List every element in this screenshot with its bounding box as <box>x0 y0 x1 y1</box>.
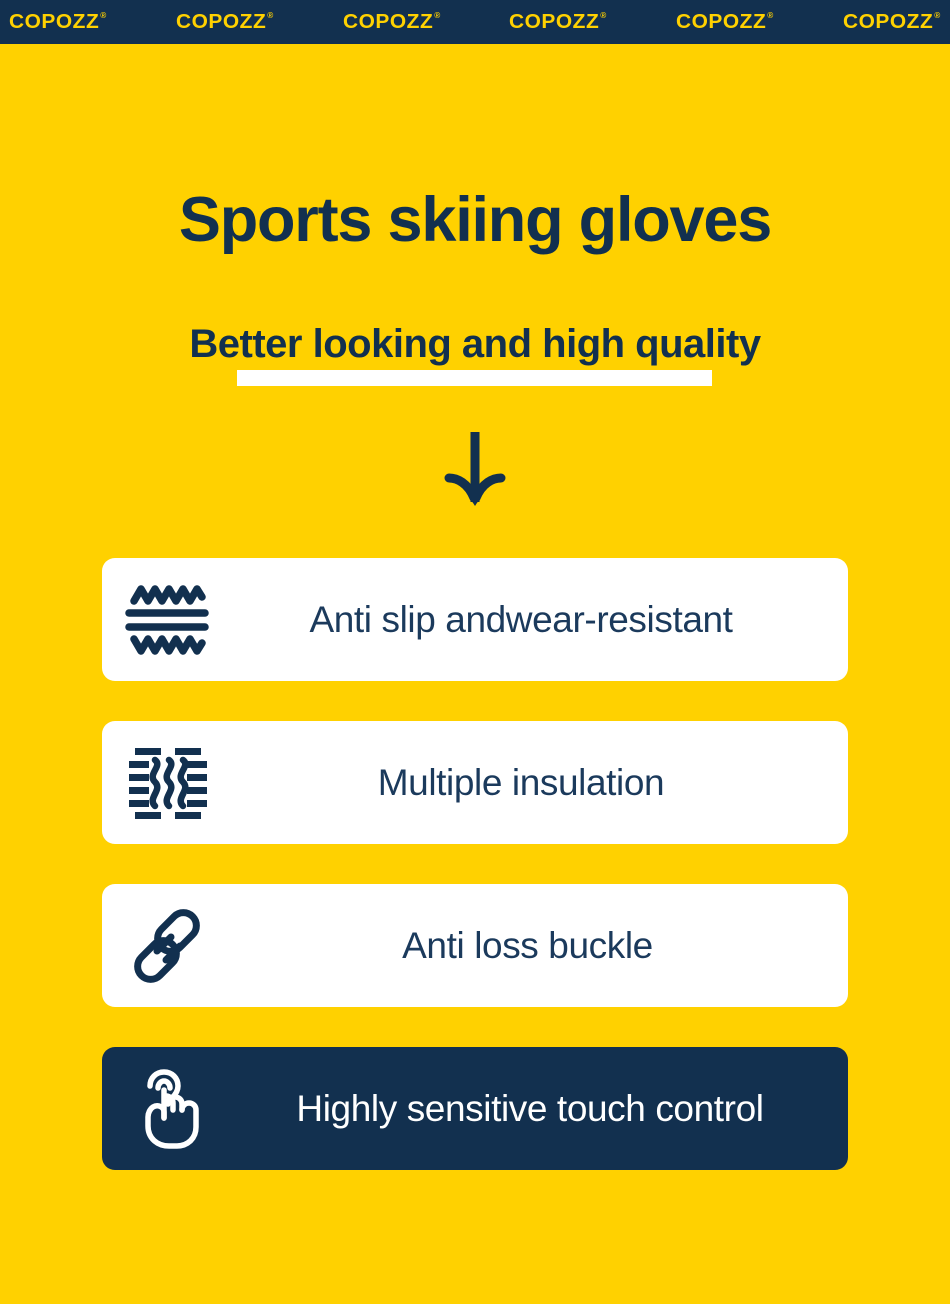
brand-logo-text: COPOZZ <box>9 10 99 34</box>
feature-label: Anti loss buckle <box>232 925 848 967</box>
registered-trademark-icon: ® <box>267 12 274 20</box>
feature-card-insulation[interactable]: Multiple insulation <box>102 721 848 844</box>
feature-card-anti-slip[interactable]: Anti slip andwear-resistant <box>102 558 848 681</box>
subtitle-highlight-bar <box>237 370 712 386</box>
brand-logo-text: COPOZZ <box>676 10 766 34</box>
feature-card-touch-control[interactable]: Highly sensitive touch control <box>102 1047 848 1170</box>
registered-trademark-icon: ® <box>100 12 107 20</box>
registered-trademark-icon: ® <box>434 12 441 20</box>
touch-hand-icon <box>102 1047 232 1170</box>
brand-logo-text: COPOZZ <box>843 10 933 34</box>
brand-logo: COPOZZ® <box>343 10 441 34</box>
subtitle-block: Better looking and high quality <box>0 322 950 392</box>
anti-slip-zigzag-icon <box>102 558 232 681</box>
brand-logo: COPOZZ® <box>843 10 941 34</box>
feature-card-anti-loss-buckle[interactable]: Anti loss buckle <box>102 884 848 1007</box>
registered-trademark-icon: ® <box>934 12 941 20</box>
feature-label: Highly sensitive touch control <box>232 1088 848 1130</box>
arrow-down-icon <box>435 428 515 518</box>
brand-logo-text: COPOZZ <box>510 10 600 34</box>
page-title: Sports skiing gloves <box>0 186 950 255</box>
feature-card-list: Anti slip andwear-resistant <box>102 558 848 1170</box>
registered-trademark-icon: ® <box>601 12 608 20</box>
feature-label: Multiple insulation <box>232 762 848 804</box>
registered-trademark-icon: ® <box>768 12 775 20</box>
brand-logo: COPOZZ® <box>176 10 274 34</box>
brand-logo: COPOZZ® <box>676 10 774 34</box>
chain-link-icon <box>102 884 232 1007</box>
page-subtitle: Better looking and high quality <box>189 322 760 366</box>
brand-logo-text: COPOZZ <box>343 10 433 34</box>
brand-logo: COPOZZ® <box>510 10 608 34</box>
brand-logo: COPOZZ® <box>9 10 107 34</box>
brand-banner: COPOZZ® COPOZZ® COPOZZ® COPOZZ® COPOZZ® … <box>0 0 950 44</box>
feature-label: Anti slip andwear-resistant <box>232 599 848 641</box>
brand-logo-text: COPOZZ <box>176 10 266 34</box>
insulation-waves-icon <box>102 721 232 844</box>
